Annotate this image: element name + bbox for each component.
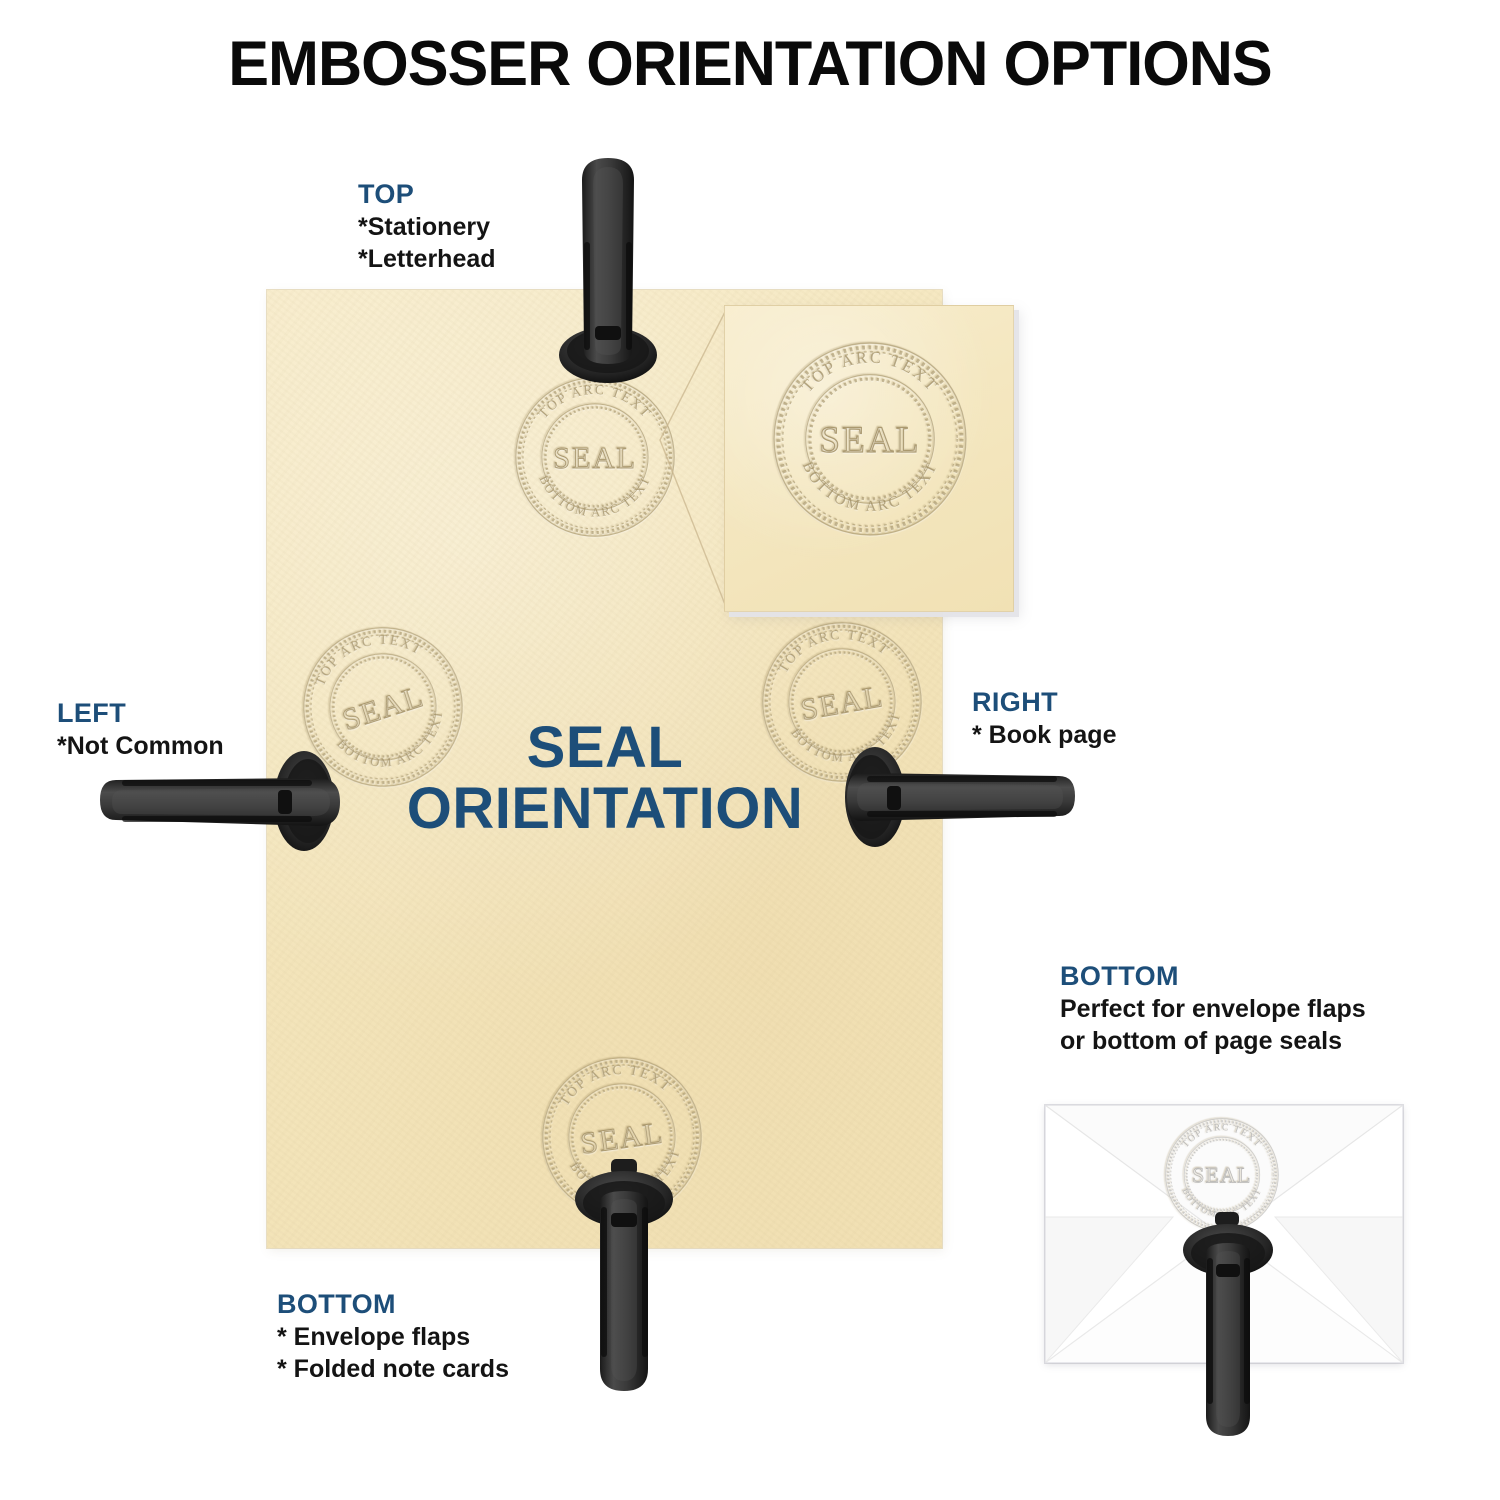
seal-center-text: SEAL bbox=[819, 420, 920, 461]
label-top-line2: *Letterhead bbox=[358, 243, 496, 276]
label-bottom-left-heading: BOTTOM bbox=[277, 1288, 509, 1321]
seal-top-arc-text: TOP ARC TEXT bbox=[798, 347, 943, 395]
label-right: RIGHT * Book page bbox=[972, 686, 1116, 751]
label-right-heading: RIGHT bbox=[972, 686, 1116, 719]
envelope-graphic: TOP ARC TEXT BOTTOM ARC TEXT SEAL bbox=[1045, 1105, 1403, 1363]
label-bottom-left-line1: * Envelope flaps bbox=[277, 1321, 509, 1354]
label-right-line1: * Book page bbox=[972, 719, 1116, 752]
label-bottom-right-line1: Perfect for envelope flaps bbox=[1060, 993, 1366, 1026]
seal-bottom-arc-text: BOTTOM ARC TEXT bbox=[799, 459, 941, 515]
center-caption: SEAL ORIENTATION bbox=[330, 718, 880, 840]
label-left-heading: LEFT bbox=[57, 697, 224, 730]
center-caption-line1: SEAL bbox=[330, 718, 880, 779]
page-title: EMBOSSER ORIENTATION OPTIONS bbox=[23, 28, 1478, 100]
magnified-seal-panel: TOP ARC TEXT BOTTOM ARC TEXT SEAL bbox=[724, 305, 1014, 612]
label-left-line1: *Not Common bbox=[57, 730, 224, 763]
label-top-line1: *Stationery bbox=[358, 211, 496, 244]
label-left: LEFT *Not Common bbox=[57, 697, 224, 762]
label-bottom-right-heading: BOTTOM bbox=[1060, 960, 1366, 993]
infographic-canvas: EMBOSSER ORIENTATION OPTIONS TOP ARC TEX… bbox=[0, 0, 1500, 1500]
label-bottom-left: BOTTOM * Envelope flaps * Folded note ca… bbox=[277, 1288, 509, 1386]
label-bottom-right-line2: or bottom of page seals bbox=[1060, 1025, 1366, 1058]
seal-impression-magnified: TOP ARC TEXT BOTTOM ARC TEXT SEAL bbox=[761, 330, 979, 548]
center-caption-line2: ORIENTATION bbox=[330, 779, 880, 840]
label-bottom-left-line2: * Folded note cards bbox=[277, 1353, 509, 1386]
label-bottom-right: BOTTOM Perfect for envelope flaps or bot… bbox=[1060, 960, 1366, 1058]
label-top-heading: TOP bbox=[358, 178, 496, 211]
label-top: TOP *Stationery *Letterhead bbox=[358, 178, 496, 276]
